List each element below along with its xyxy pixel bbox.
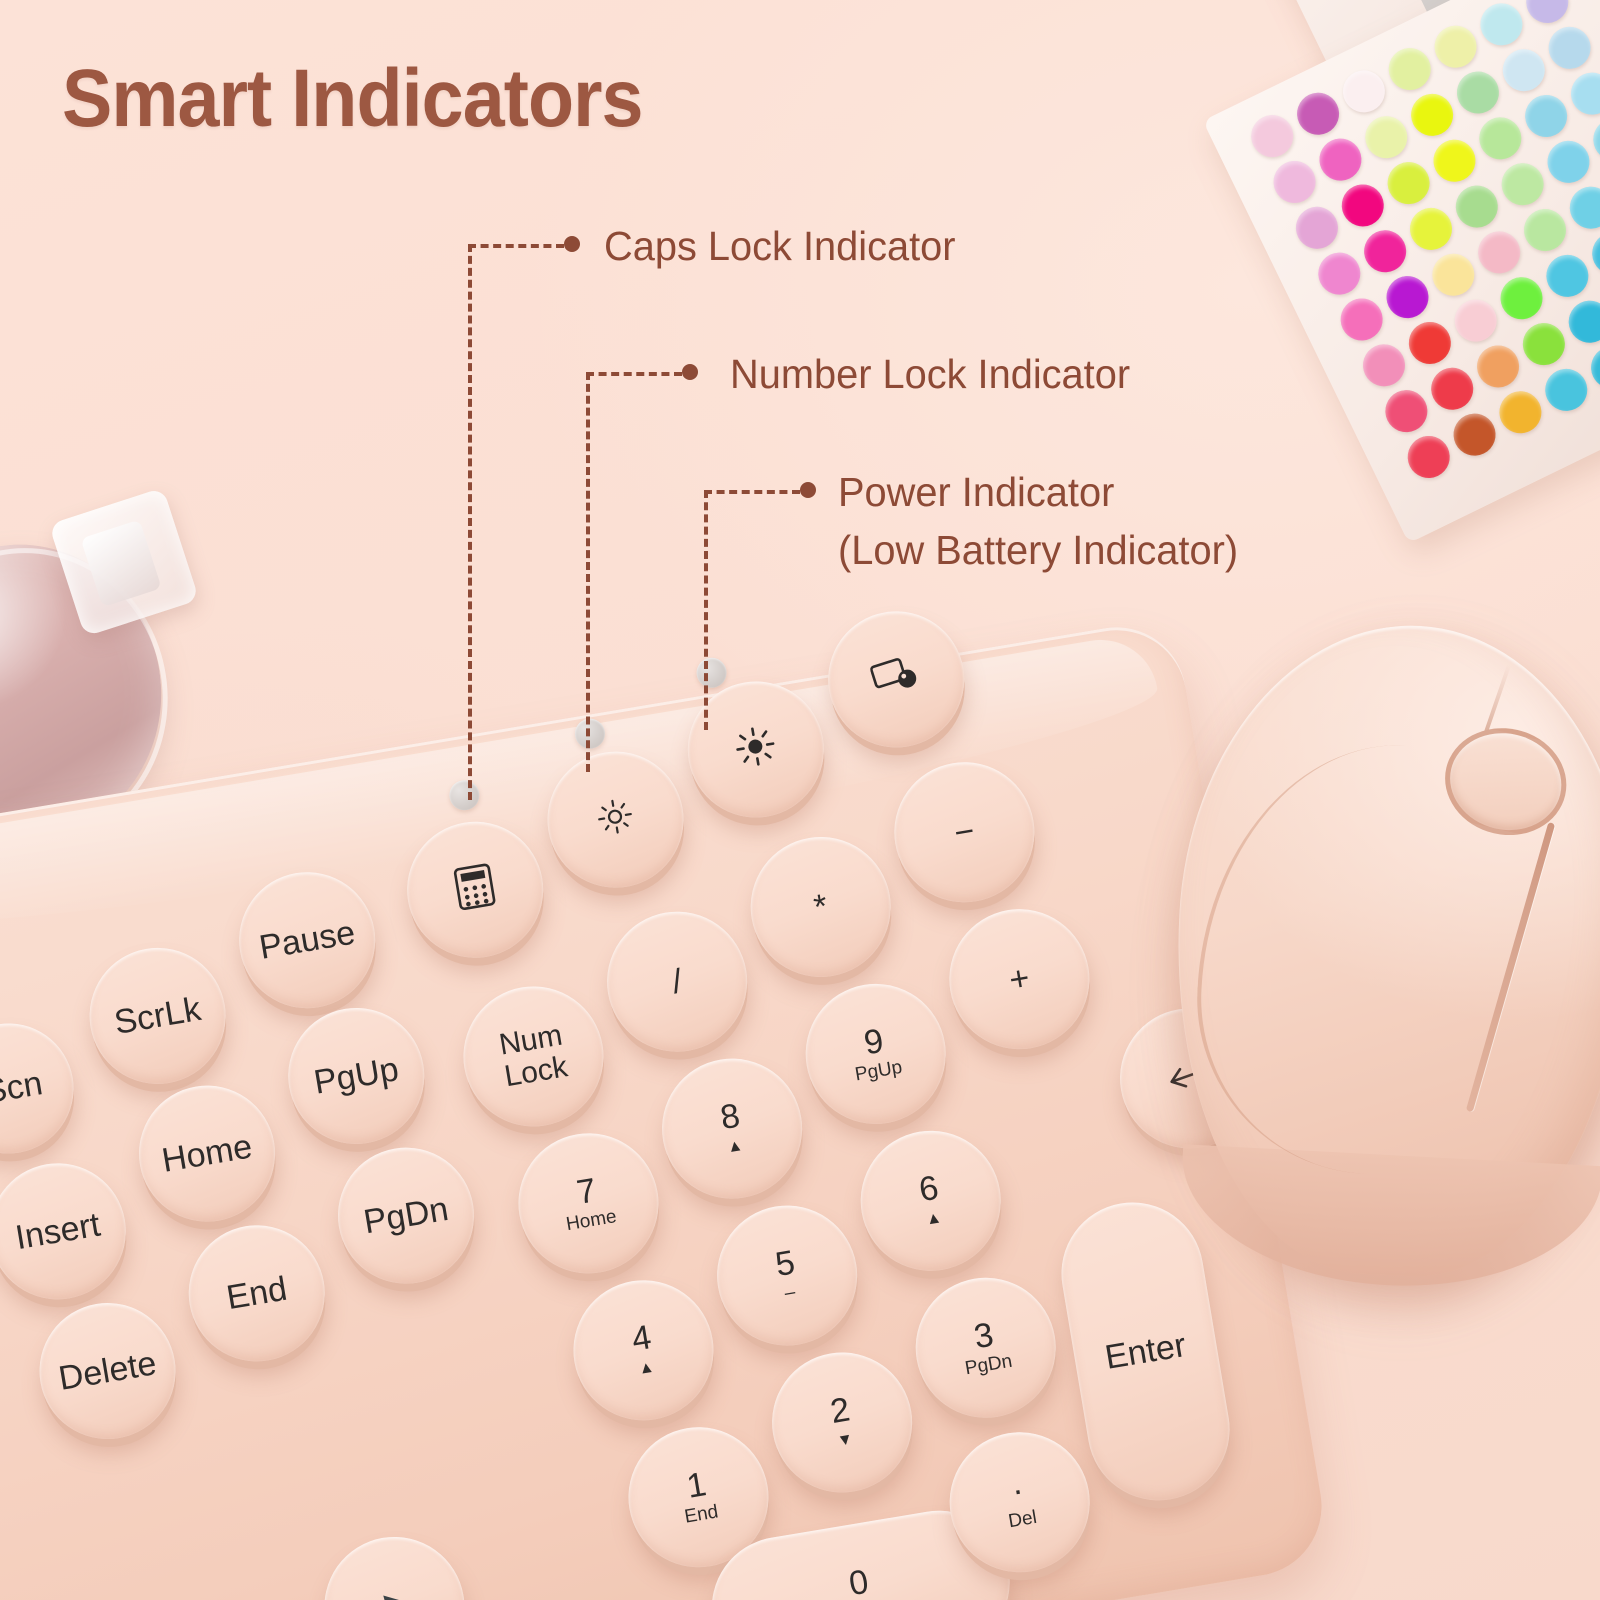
- palette-pan: [1564, 66, 1600, 122]
- eyeshadow-palette: [1262, 0, 1600, 550]
- power-leader-horizontal: [704, 490, 800, 494]
- arrow-right-icon: [378, 1587, 412, 1600]
- wireless-mouse[interactable]: [1160, 584, 1600, 1308]
- palette-pan: [1518, 88, 1574, 144]
- palette-pan: [1516, 316, 1572, 372]
- page-title: Smart Indicators: [62, 58, 643, 140]
- power-label-line2: (Low Battery Indicator): [838, 523, 1238, 578]
- palette-pan: [1496, 42, 1552, 98]
- palette-pan: [1517, 202, 1573, 258]
- caps-lock-label: Caps Lock Indicator: [604, 219, 955, 274]
- palette-pan: [1450, 64, 1506, 120]
- palette-pan: [1470, 338, 1526, 394]
- palette-pan: [1357, 223, 1413, 279]
- palette-pan: [1335, 177, 1391, 233]
- palette-pan: [1424, 361, 1480, 417]
- palette-pan: [1540, 134, 1596, 190]
- caps-lock-leader-horizontal: [468, 244, 564, 248]
- palette-pan: [1403, 201, 1459, 257]
- calculator-icon: [452, 862, 498, 918]
- palette-pan: [1495, 156, 1551, 212]
- palette-pan: [1449, 179, 1505, 235]
- number-lock-leader-dot: [682, 364, 698, 380]
- number-lock-leader-horizontal: [586, 372, 682, 376]
- palette-pan: [1493, 270, 1549, 326]
- palette-pan: [1539, 248, 1595, 304]
- palette-pan: [1519, 0, 1575, 30]
- power-leader-vertical: [704, 490, 708, 730]
- palette-pan: [1381, 155, 1437, 211]
- power-leader-dot: [800, 482, 816, 498]
- brightness-down-icon: [592, 794, 639, 846]
- palette-pan: [1563, 180, 1600, 236]
- number-lock-label: Number Lock Indicator: [730, 347, 1130, 402]
- palette-pan: [1448, 293, 1504, 349]
- palette-pan: [1312, 132, 1368, 188]
- caps-lock-leader-dot: [564, 236, 580, 252]
- palette-pan: [1562, 294, 1600, 350]
- palette-pan: [1404, 87, 1460, 143]
- caps-lock-leader-vertical: [468, 244, 472, 800]
- power-label-line1: Power Indicator: [838, 465, 1114, 520]
- palette-pan: [1379, 269, 1435, 325]
- product-scene: CE tScn ScrLk Pause Insert Home PgUp Del…: [0, 0, 1600, 1600]
- brightness-up-icon: [731, 722, 780, 776]
- number-lock-leader-vertical: [586, 372, 590, 772]
- palette-pan: [1402, 315, 1458, 371]
- palette-pan: [1426, 133, 1482, 189]
- palette-pan: [1471, 224, 1527, 280]
- power-led: [694, 656, 729, 691]
- screen-lock-icon: [869, 654, 924, 705]
- palette-pan: [1358, 109, 1414, 165]
- palette-pan: [1472, 110, 1528, 166]
- palette-pan: [1425, 247, 1481, 303]
